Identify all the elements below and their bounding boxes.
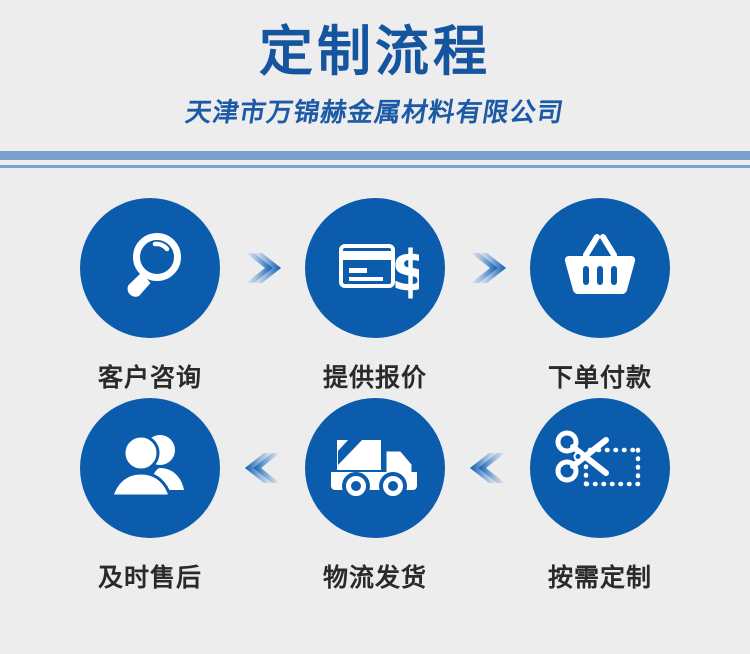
step-logistics-shipping[interactable]: 物流发货 — [305, 398, 445, 594]
step-icon-circle — [80, 198, 220, 338]
step-row-1: 客户咨询 — [0, 198, 750, 398]
chevron-left-icon — [240, 445, 286, 491]
step-icon-circle — [530, 398, 670, 538]
connector-left-2 — [445, 398, 530, 538]
divider-thin-line — [0, 165, 750, 168]
step-order-payment[interactable]: 下单付款 — [530, 198, 670, 394]
header-divider — [0, 151, 750, 168]
step-custom-on-demand[interactable]: 按需定制 — [530, 398, 670, 594]
step-icon-circle — [305, 398, 445, 538]
step-label: 提供报价 — [323, 358, 427, 394]
step-label: 客户咨询 — [98, 358, 202, 394]
shopping-basket-icon — [559, 225, 641, 311]
step-label: 物流发货 — [323, 558, 427, 594]
scissors-cut-icon — [554, 420, 646, 516]
check-dollar-icon: $ — [331, 222, 419, 314]
users-icon — [108, 424, 192, 512]
process-steps: 客户咨询 — [0, 198, 750, 598]
connector-right-1 — [220, 198, 305, 338]
divider-thick-band — [0, 151, 750, 160]
step-label: 下单付款 — [548, 358, 652, 394]
banner-header: 定制流程 天津市万锦赫金属材料有限公司 — [0, 0, 750, 129]
step-icon-circle: $ — [305, 198, 445, 338]
magnifier-icon — [108, 224, 192, 312]
chevron-left-icon — [465, 445, 511, 491]
step-after-sales[interactable]: 及时售后 — [80, 398, 220, 594]
step-label: 按需定制 — [548, 558, 652, 594]
chevron-right-icon — [465, 245, 511, 291]
page-title: 定制流程 — [0, 22, 750, 82]
step-label: 及时售后 — [98, 558, 202, 594]
step-provide-quote[interactable]: $ 提供报价 — [305, 198, 445, 394]
connector-right-2 — [445, 198, 530, 338]
chevron-right-icon — [240, 245, 286, 291]
step-customer-inquiry[interactable]: 客户咨询 — [80, 198, 220, 394]
step-icon-circle — [80, 398, 220, 538]
company-subtitle: 天津市万锦赫金属材料有限公司 — [183, 92, 567, 129]
step-icon-circle — [530, 198, 670, 338]
connector-left-1 — [220, 398, 305, 538]
delivery-truck-icon — [329, 420, 421, 516]
step-row-2: 及时售后 — [0, 398, 750, 598]
svg-text:$: $ — [391, 239, 419, 304]
